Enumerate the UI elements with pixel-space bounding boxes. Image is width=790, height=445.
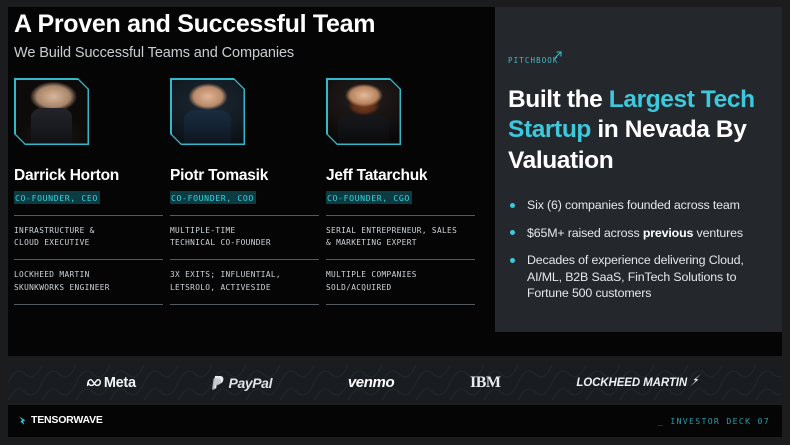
member-fact: MULTIPLE-TIME TECHNICAL CO-FOUNDER bbox=[170, 225, 319, 251]
photo-frame bbox=[14, 78, 89, 145]
logo-label: venmo bbox=[348, 374, 394, 391]
logo-row: Meta PayPal venmo IBM LOCKHEED MARTIN bbox=[8, 365, 782, 400]
lockheed-star-icon bbox=[685, 372, 704, 388]
team-member-card: Jeff Tatarchuk CO-FOUNDER, CGO SERIAL EN… bbox=[326, 78, 475, 305]
divider bbox=[170, 259, 319, 260]
member-name: Jeff Tatarchuk bbox=[326, 167, 475, 185]
photo-frame bbox=[170, 78, 245, 145]
page-title: A Proven and Successful Team bbox=[14, 10, 484, 38]
page-subtitle: We Build Successful Teams and Companies bbox=[14, 45, 484, 61]
avatar bbox=[170, 78, 245, 145]
member-role-badge: CO-FOUNDER, COO bbox=[170, 191, 256, 204]
member-fact: SERIAL ENTREPRENEUR, SALES & MARKETING E… bbox=[326, 225, 475, 251]
team-member-card: Piotr Tomasik CO-FOUNDER, COO MULTIPLE-T… bbox=[170, 78, 319, 305]
bullet-emphasis: previous bbox=[643, 226, 693, 240]
divider bbox=[170, 215, 319, 216]
bullet-text: Decades of experience delivering Cloud, … bbox=[527, 253, 744, 300]
arrow-up-right-icon bbox=[552, 49, 564, 61]
logo-ibm: IBM bbox=[470, 374, 501, 392]
member-fact: 3X EXITS; INFLUENTIAL, LETSROLO, ACTIVES… bbox=[170, 269, 319, 295]
member-role-badge: CO-FOUNDER, CEO bbox=[14, 191, 100, 204]
brand-lockup: TENSORWAVE bbox=[18, 414, 103, 426]
bullet-text-tail: ventures bbox=[693, 226, 743, 240]
portrait-piotr-tomasik bbox=[172, 80, 244, 144]
member-name: Piotr Tomasik bbox=[170, 167, 319, 185]
bullet-text: Six (6) companies founded across team bbox=[527, 198, 740, 212]
divider bbox=[326, 259, 475, 260]
highlight-panel: PITCHBOOK Built the Largest Tech Startup… bbox=[495, 7, 782, 332]
slide: A Proven and Successful Team We Build Su… bbox=[0, 0, 790, 445]
photo-frame-inner bbox=[172, 80, 244, 144]
portrait-jeff-tatarchuk bbox=[328, 80, 400, 144]
highlight-list: Six (6) companies founded across team $6… bbox=[508, 197, 773, 302]
logo-label: PayPal bbox=[229, 375, 273, 391]
bullet-dot-icon bbox=[510, 258, 515, 263]
portrait-darrick-horton bbox=[16, 80, 88, 144]
panel-heading: Built the Largest Tech Startup in Nevada… bbox=[508, 85, 774, 176]
logo-lockheed-martin: LOCKHEED MARTIN bbox=[576, 377, 704, 389]
divider bbox=[326, 304, 475, 305]
logo-paypal: PayPal bbox=[212, 375, 273, 391]
heading-text-2: in bbox=[591, 116, 618, 143]
member-fact: LOCKHEED MARTIN SKUNKWORKS ENGINEER bbox=[14, 269, 163, 295]
bullet-dot-icon bbox=[510, 230, 515, 235]
paypal-p-icon bbox=[212, 375, 225, 390]
divider bbox=[14, 304, 163, 305]
divider bbox=[326, 215, 475, 216]
meta-infinity-icon bbox=[86, 377, 104, 389]
member-role-badge: CO-FOUNDER, CGO bbox=[326, 191, 412, 204]
bullet-dot-icon bbox=[510, 203, 515, 208]
logo-label: LOCKHEED MARTIN bbox=[576, 377, 687, 389]
slide-footer: TENSORWAVE _ INVESTOR DECK 07 bbox=[8, 405, 782, 437]
source-label: PITCHBOOK bbox=[508, 56, 559, 65]
member-fact: INFRASTRUCTURE & CLOUD EXECUTIVE bbox=[14, 225, 163, 251]
team-grid: Darrick Horton CO-FOUNDER, CEO INFRASTRU… bbox=[14, 78, 482, 305]
bullet-text: $65M+ raised across bbox=[527, 226, 643, 240]
member-name: Darrick Horton bbox=[14, 167, 163, 185]
member-fact: MULTIPLE COMPANIES SOLD/ACQUIRED bbox=[326, 269, 475, 295]
list-item: Six (6) companies founded across team bbox=[508, 197, 773, 214]
avatar bbox=[14, 78, 89, 145]
photo-frame-inner bbox=[328, 80, 400, 144]
logo-venmo: venmo bbox=[348, 374, 394, 391]
photo-frame-inner bbox=[16, 80, 88, 144]
list-item: $65M+ raised across previous ventures bbox=[508, 225, 773, 242]
logo-label: Meta bbox=[104, 375, 136, 391]
logo-meta: Meta bbox=[86, 375, 136, 391]
partner-logo-bar: Meta PayPal venmo IBM LOCKHEED MARTIN bbox=[8, 365, 782, 400]
list-item: Decades of experience delivering Cloud, … bbox=[508, 252, 773, 302]
team-member-card: Darrick Horton CO-FOUNDER, CEO INFRASTRU… bbox=[14, 78, 163, 305]
logo-label: IBM bbox=[470, 374, 501, 392]
left-column: A Proven and Successful Team We Build Su… bbox=[14, 10, 484, 61]
deck-page-label: _ INVESTOR DECK 07 bbox=[658, 416, 770, 426]
brand-name: TENSORWAVE bbox=[31, 414, 103, 426]
heading-accent-1: Largest bbox=[609, 86, 695, 113]
tensorwave-bolt-icon bbox=[18, 415, 28, 426]
divider bbox=[14, 259, 163, 260]
divider bbox=[170, 304, 319, 305]
heading-text-1: Built the bbox=[508, 86, 609, 113]
photo-frame bbox=[326, 78, 401, 145]
avatar bbox=[326, 78, 401, 145]
divider bbox=[14, 215, 163, 216]
